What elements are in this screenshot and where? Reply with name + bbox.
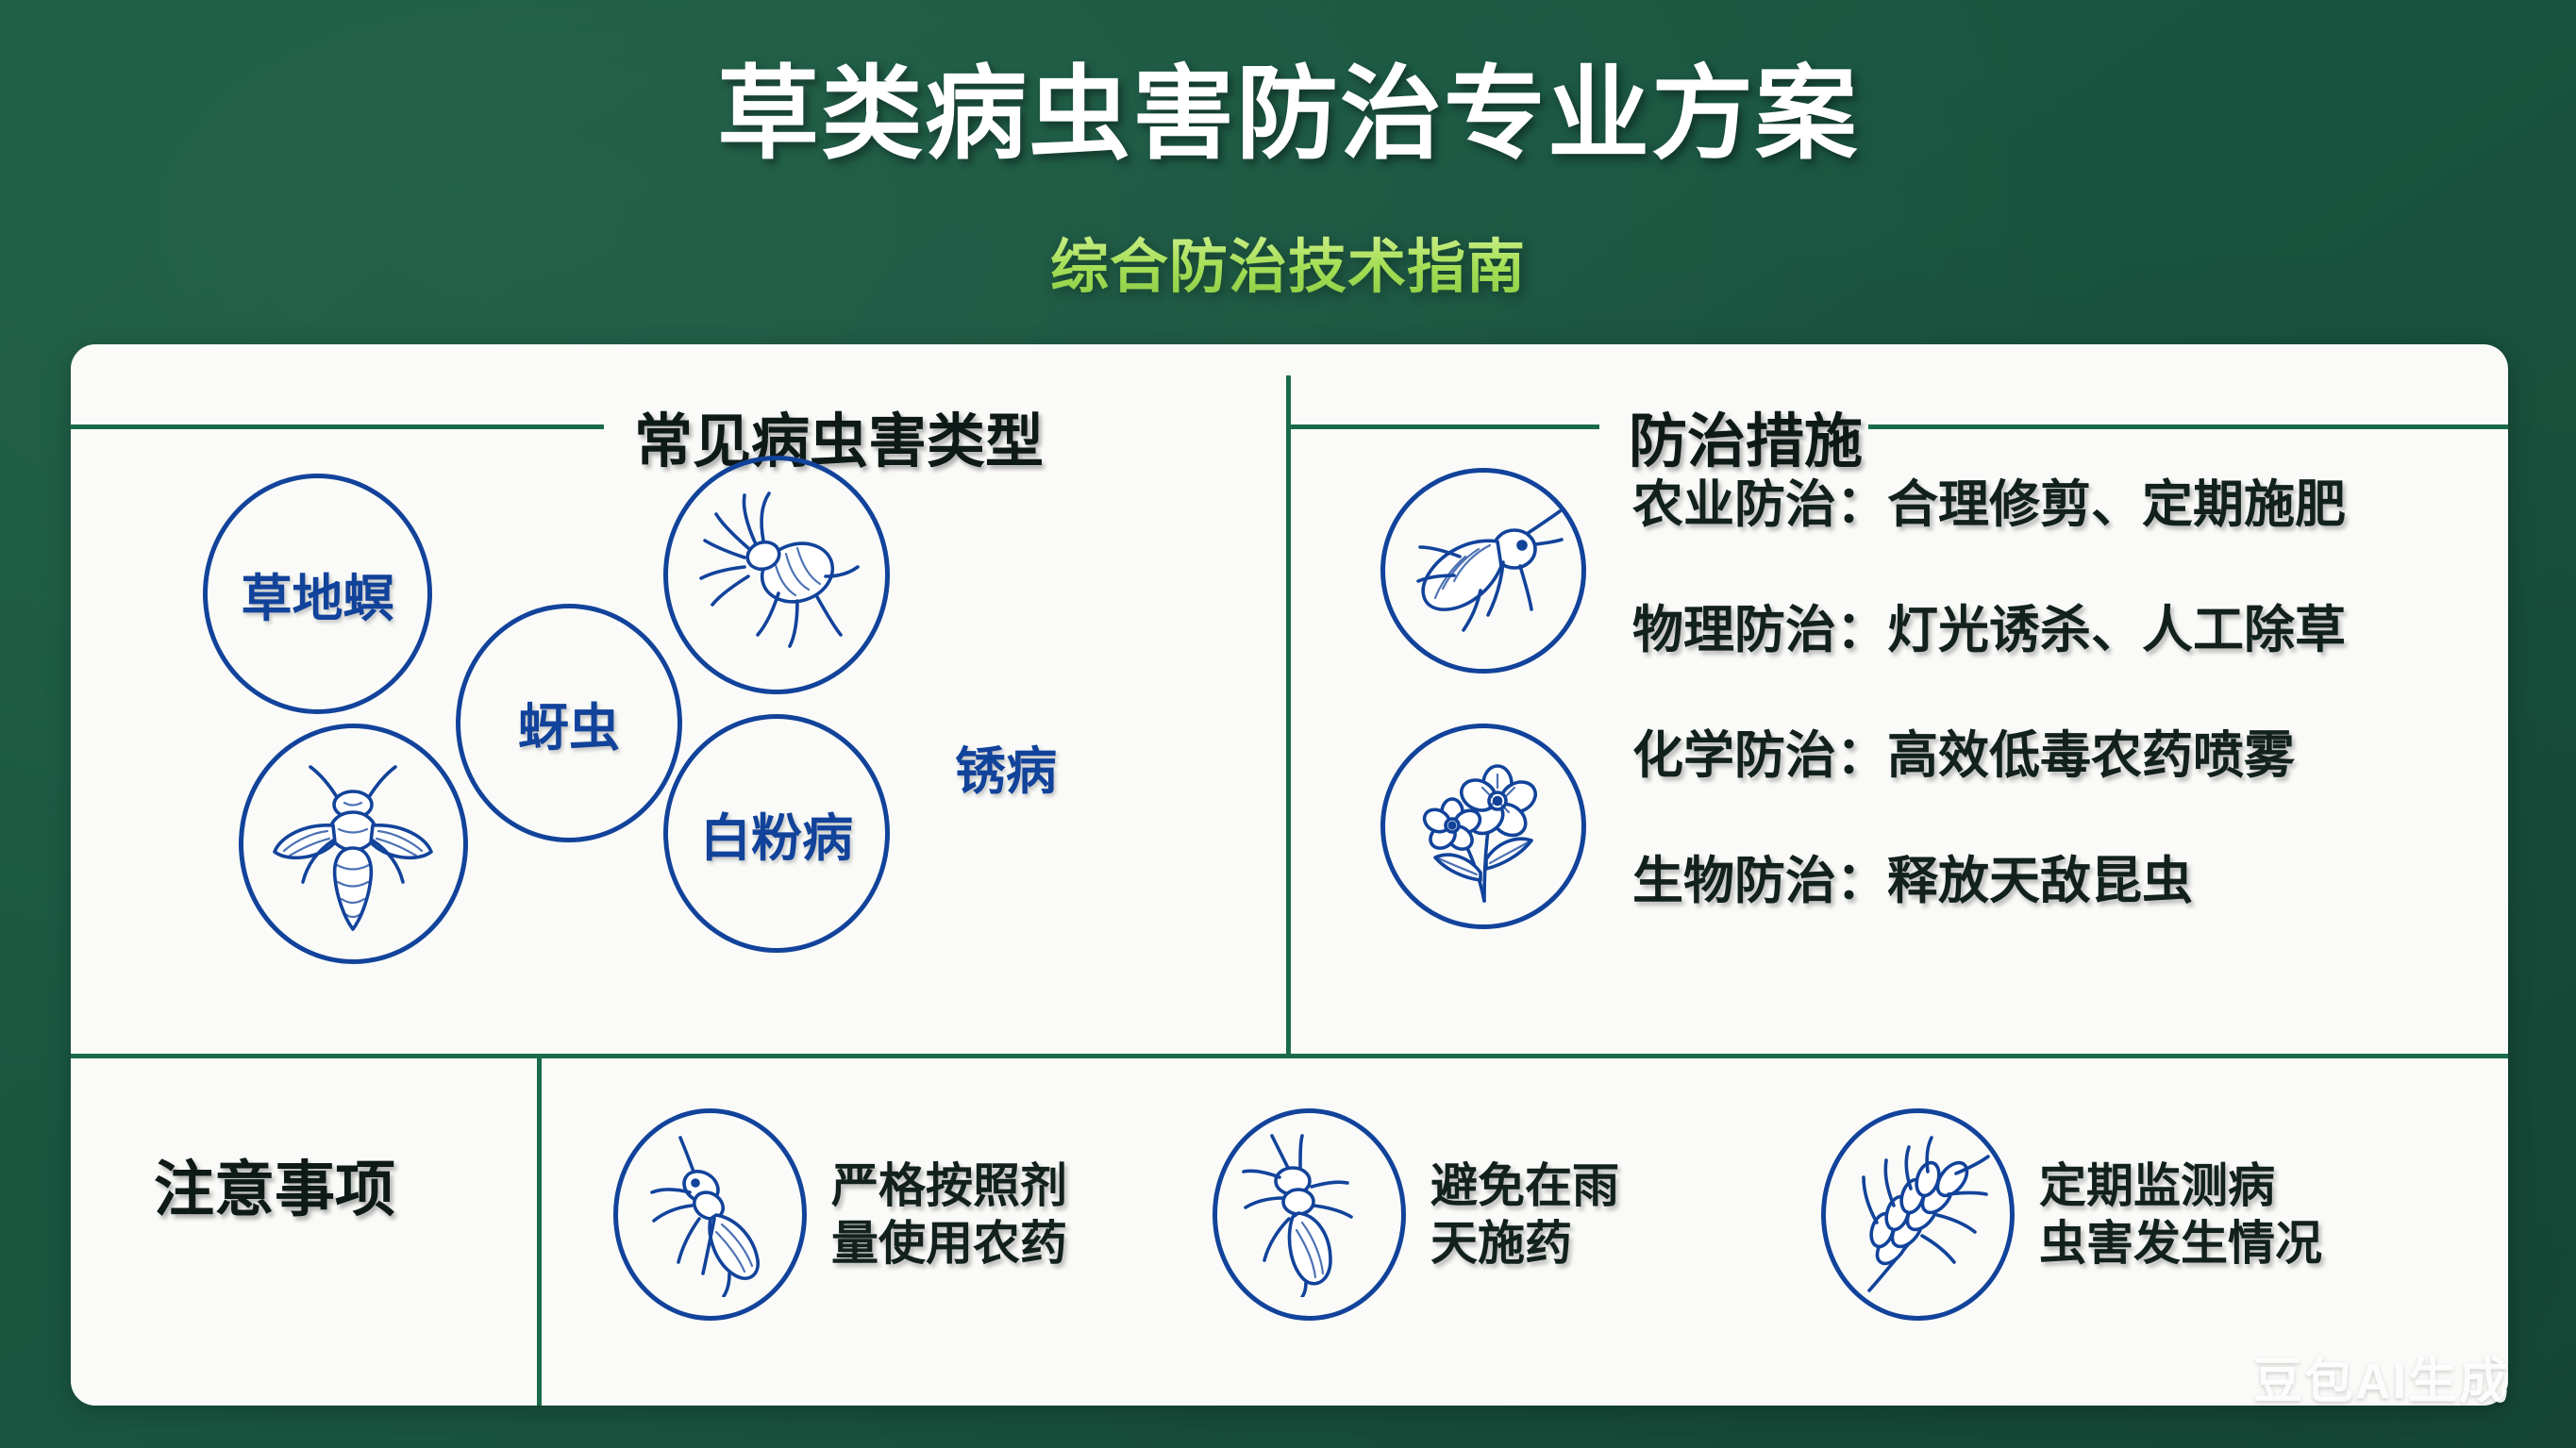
pest-bubble-yachong[interactable]: 蚜虫 bbox=[456, 604, 682, 842]
section-rule-middle bbox=[1288, 424, 1599, 429]
section-rule-left bbox=[71, 424, 604, 429]
measure-item-chemical: 化学防治：高效低毒农药喷雾 bbox=[1632, 713, 2295, 788]
section-rule-right bbox=[1868, 424, 2508, 429]
note-text: 严格按照剂 量使用农药 bbox=[831, 1157, 1067, 1273]
measure-icon-bubble-aphid[interactable] bbox=[1380, 468, 1586, 674]
content-card: 常见病虫害类型 防治措施 草地螟 bbox=[71, 344, 2508, 1406]
notes-divider-horizontal bbox=[71, 1054, 2508, 1058]
pest-label: 草地螟 bbox=[242, 557, 394, 631]
pest-label-xiubing: 锈病 bbox=[955, 729, 1057, 804]
measure-item-biological: 生物防治：释放天敌昆虫 bbox=[1632, 839, 2193, 913]
pest-bubble-caodimeng[interactable]: 草地螟 bbox=[203, 474, 432, 714]
note-text: 定期监测病 虫害发生情况 bbox=[2039, 1157, 2322, 1273]
notes-section-title: 注意事项 bbox=[154, 1141, 395, 1228]
flower-icon bbox=[1403, 746, 1564, 907]
thrips-icon bbox=[692, 486, 861, 665]
page-subtitle: 综合防治技术指南 bbox=[0, 219, 2576, 304]
notes-divider-vertical bbox=[537, 1054, 542, 1406]
pest-bubble-baifenbing[interactable]: 白粉病 bbox=[663, 714, 890, 953]
page-title: 草类病虫害防治专业方案 bbox=[0, 32, 2576, 179]
note-text: 避免在雨 天施药 bbox=[1430, 1157, 1619, 1273]
watermark: 豆包AI生成 bbox=[2253, 1341, 2510, 1412]
measure-icon-bubble-flower[interactable] bbox=[1380, 724, 1586, 929]
pest-label: 蚜虫 bbox=[518, 686, 620, 760]
pest-label: 白粉病 bbox=[700, 796, 853, 871]
note-item[interactable]: 避免在雨 天施药 bbox=[1213, 1108, 1619, 1321]
left-panel-title: 常见病虫害类型 bbox=[634, 393, 1044, 478]
panel-divider-vertical bbox=[1286, 375, 1291, 1054]
aphid-icon bbox=[1403, 500, 1564, 641]
header: 草类病虫害防治专业方案 综合防治技术指南 bbox=[0, 0, 2576, 344]
weevil-icon bbox=[1213, 1108, 1406, 1321]
pest-bubble-thrips[interactable] bbox=[663, 456, 890, 694]
measure-item-agricultural: 农业防治：合理修剪、定期施肥 bbox=[1632, 462, 2346, 537]
pest-bubble-bee[interactable] bbox=[239, 724, 468, 964]
bee-icon bbox=[269, 750, 439, 939]
note-item[interactable]: 定期监测病 虫害发生情况 bbox=[1821, 1108, 2322, 1321]
note-item[interactable]: 严格按照剂 量使用农药 bbox=[613, 1108, 1067, 1321]
wheat-icon bbox=[1821, 1108, 2015, 1321]
measure-item-physical: 物理防治：灯光诱杀、人工除草 bbox=[1632, 588, 2346, 662]
beetle-icon bbox=[613, 1108, 807, 1321]
